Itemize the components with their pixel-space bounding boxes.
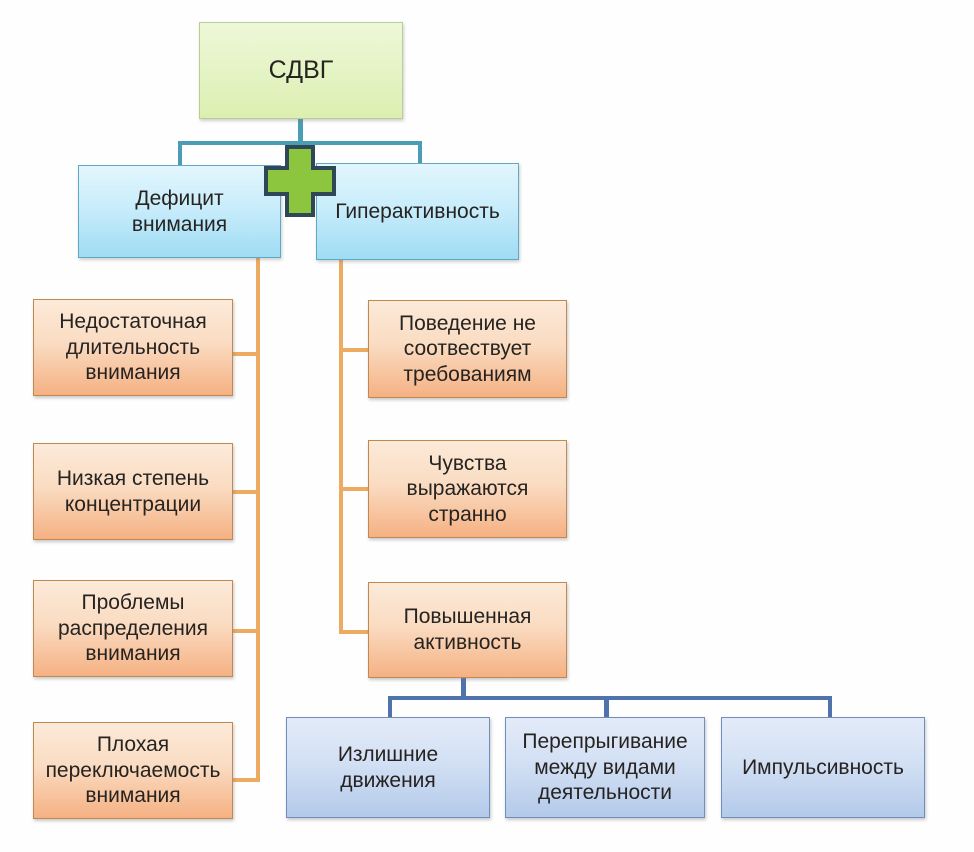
node-attention-deficit-label: Дефицит внимания — [79, 186, 280, 237]
connector-attention-branch-2 — [233, 490, 258, 494]
node-attention-symptom-3[interactable]: Проблемы распределения внимания — [33, 580, 233, 677]
connector-hyperactivity-spine — [339, 260, 343, 634]
node-activity-detail-1[interactable]: Излишние движения — [286, 717, 490, 818]
node-hyperactivity-symptom-2[interactable]: Чувства выражаются странно — [368, 440, 567, 538]
node-hyperactivity-symptom-1[interactable]: Поведение не соотвествует требованиям — [368, 300, 567, 398]
connector-attention-branch-3 — [233, 629, 258, 633]
plus-icon — [264, 145, 336, 217]
connector-attention-branch-1 — [233, 352, 258, 356]
node-hyperactivity-symptom-3[interactable]: Повышенная активность — [368, 582, 567, 678]
connector-activity-bus — [388, 696, 832, 700]
connector-activity-drop-1 — [388, 696, 392, 718]
node-hyperactivity[interactable]: Гиперактивность — [316, 163, 519, 260]
node-attention-symptom-2-label: Низкая степень концентрации — [34, 466, 232, 517]
node-activity-detail-2[interactable]: Перепрыгивание между видами деятельности — [505, 717, 705, 818]
connector-hyperactivity-branch-1 — [339, 348, 368, 352]
node-attention-symptom-4[interactable]: Плохая переключаемость внимания — [33, 722, 233, 819]
connector-activity-drop-2 — [604, 696, 609, 718]
connector-root-to-hyperactivity — [418, 141, 422, 165]
node-activity-detail-3-label: Импульсивность — [722, 755, 924, 781]
node-attention-symptom-4-label: Плохая переключаемость внимания — [34, 732, 232, 809]
node-attention-symptom-1-label: Недостаточная длительность внимания — [34, 309, 232, 386]
plus-icon-fill-v — [289, 149, 311, 213]
node-root-adhd[interactable]: СДВГ — [199, 22, 403, 119]
node-activity-detail-1-label: Излишние движения — [287, 742, 489, 793]
connector-hyperactivity-branch-2 — [339, 487, 368, 491]
node-root-adhd-label: СДВГ — [200, 55, 402, 86]
node-attention-symptom-1[interactable]: Недостаточная длительность внимания — [33, 299, 233, 396]
connector-hyperactivity-branch-3 — [339, 630, 368, 634]
connector-attention-spine — [256, 258, 260, 782]
node-attention-deficit[interactable]: Дефицит внимания — [78, 165, 281, 258]
node-hyperactivity-symptom-2-label: Чувства выражаются странно — [369, 451, 566, 528]
connector-root-to-attention — [178, 141, 182, 167]
diagram-canvas: СДВГ Дефицит внимания Гиперактивность Не… — [0, 0, 974, 852]
node-attention-symptom-3-label: Проблемы распределения внимания — [34, 590, 232, 667]
node-hyperactivity-label: Гиперактивность — [317, 199, 518, 225]
node-activity-detail-3[interactable]: Импульсивность — [721, 717, 925, 818]
node-attention-symptom-2[interactable]: Низкая степень концентрации — [33, 443, 233, 540]
node-hyperactivity-symptom-1-label: Поведение не соотвествует требованиям — [369, 311, 566, 388]
connector-activity-drop-3 — [828, 696, 832, 718]
node-hyperactivity-symptom-3-label: Повышенная активность — [369, 604, 566, 655]
connector-attention-branch-4 — [233, 778, 258, 782]
node-activity-detail-2-label: Перепрыгивание между видами деятельности — [506, 729, 704, 806]
